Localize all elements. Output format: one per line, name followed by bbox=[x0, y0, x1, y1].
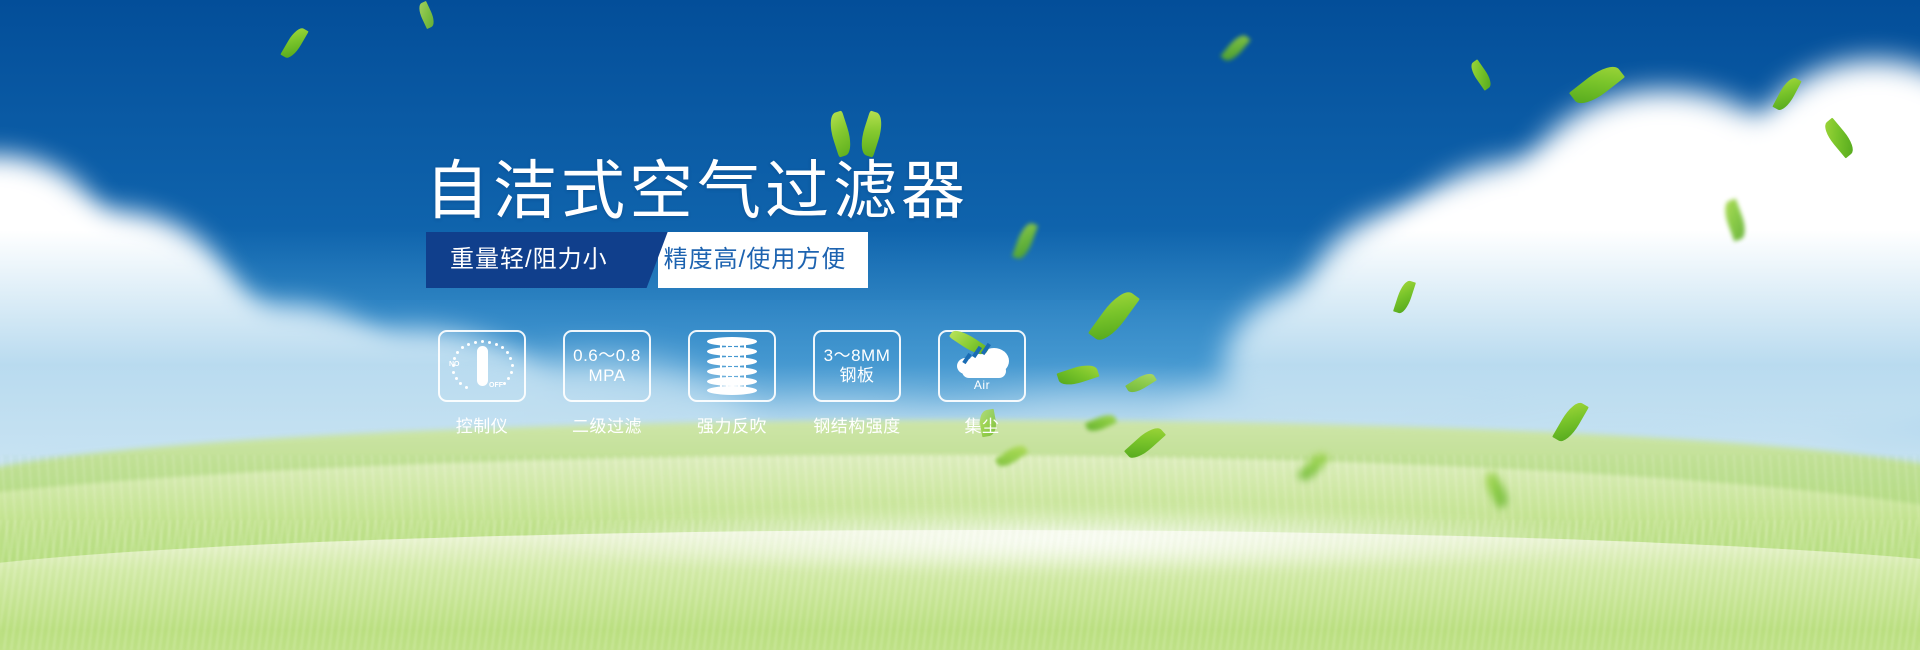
feature-label: 控制仪 bbox=[456, 412, 509, 437]
feature-label: 集尘 bbox=[965, 412, 1000, 437]
feature-box: Air bbox=[938, 330, 1026, 402]
tagline-bar: 重量轻/阻力小 精度高/使用方便 bbox=[426, 232, 868, 288]
gauge-needle bbox=[477, 346, 488, 386]
banner-content: 自洁式空气过滤器 重量轻/阻力小 精度高/使用方便 NO OFF bbox=[0, 0, 1920, 650]
product-hero-banner: 自洁式空气过滤器 重量轻/阻力小 精度高/使用方便 NO OFF bbox=[0, 0, 1920, 650]
feature-item-control-gauge: NO OFF bbox=[438, 330, 526, 437]
feature-item-pressure: 0.6～0.8 MPA 二级过滤 bbox=[563, 330, 651, 437]
air-cloud-icon: Air bbox=[951, 338, 1013, 394]
feature-list: NO OFF bbox=[438, 330, 1026, 437]
feature-box: NO OFF bbox=[438, 330, 526, 402]
gauge-off-label: OFF bbox=[489, 382, 503, 389]
filter-cartridge-icon bbox=[707, 337, 757, 395]
feature-item-dust-collection: Air 集尘 bbox=[938, 330, 1026, 437]
steel-plate-text-icon: 3～8MM 钢板 bbox=[824, 346, 891, 386]
air-label: Air bbox=[951, 378, 1013, 392]
feature-item-steel: 3～8MM 钢板 钢结构强度 bbox=[813, 330, 901, 437]
feature-box: 0.6～0.8 MPA bbox=[563, 330, 651, 402]
feature-label: 钢结构强度 bbox=[813, 412, 901, 437]
pressure-text-icon: 0.6～0.8 MPA bbox=[573, 346, 641, 386]
feature-box bbox=[688, 330, 776, 402]
feature-box: 3～8MM 钢板 bbox=[813, 330, 901, 402]
tagline-left: 重量轻/阻力小 bbox=[426, 232, 634, 288]
feature-label: 强力反吹 bbox=[697, 412, 767, 437]
gauge-icon: NO OFF bbox=[451, 338, 513, 394]
tagline-right: 精度高/使用方便 bbox=[658, 232, 869, 288]
page-title: 自洁式空气过滤器 bbox=[425, 140, 969, 232]
feature-label: 二级过滤 bbox=[572, 412, 642, 437]
feature-item-backblow: 强力反吹 bbox=[688, 330, 776, 437]
